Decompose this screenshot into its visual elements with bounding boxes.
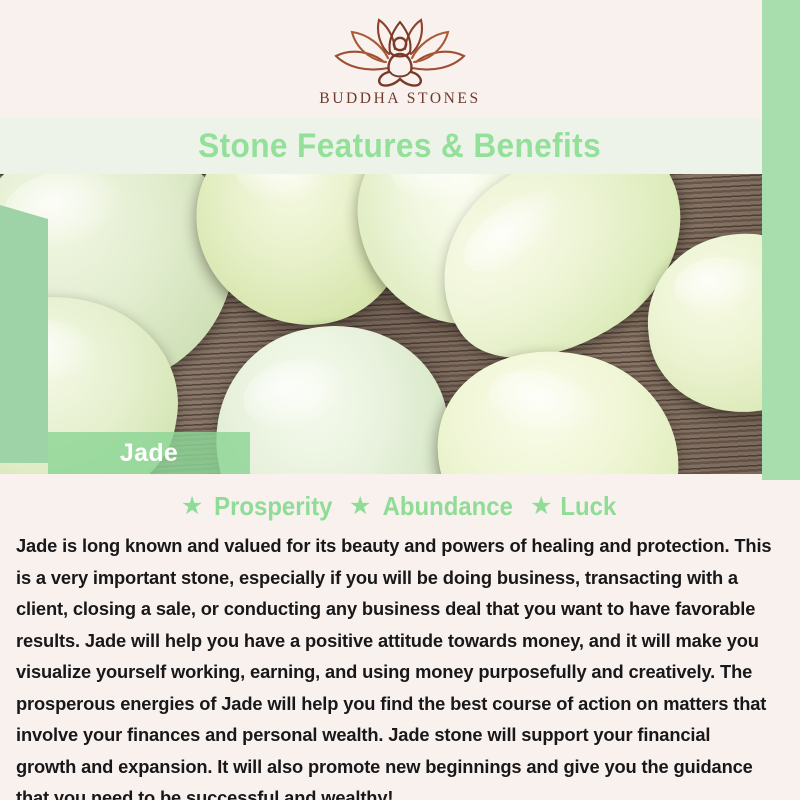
benefit-label: Abundance — [383, 491, 513, 522]
description-paragraph: Jade is long known and valued for its be… — [16, 530, 772, 800]
benefit-label: Luck — [561, 491, 617, 522]
infographic-page: BUDDHA STONES Stone Features & Benefits … — [0, 0, 800, 800]
decorative-right-green-bar — [762, 0, 800, 480]
lotus-meditation-icon — [326, 16, 474, 88]
brand-header: BUDDHA STONES — [0, 0, 800, 118]
star-icon: ★ — [349, 494, 371, 519]
decorative-left-green-bar — [0, 205, 48, 463]
star-icon: ★ — [530, 494, 552, 519]
benefit-item-prosperity: ★ Prosperity — [181, 491, 338, 522]
benefit-item-abundance: ★ Abundance — [349, 491, 519, 522]
star-icon: ★ — [181, 494, 203, 519]
benefit-label: Prosperity — [214, 491, 332, 522]
stone-name-label: Jade — [120, 439, 178, 468]
page-title: Stone Features & Benefits — [199, 127, 602, 166]
benefit-item-luck: ★ Luck — [530, 491, 619, 522]
content-section: ★ Prosperity ★ Abundance ★ Luck Jade is … — [0, 474, 800, 800]
brand-wordmark: BUDDHA STONES — [319, 90, 480, 108]
benefits-row: ★ Prosperity ★ Abundance ★ Luck — [0, 488, 800, 524]
hero-image: Jade — [0, 174, 800, 474]
stone-name-banner: Jade — [48, 432, 250, 474]
brand-logo: BUDDHA STONES — [319, 16, 480, 108]
title-banner: Stone Features & Benefits — [0, 118, 800, 174]
